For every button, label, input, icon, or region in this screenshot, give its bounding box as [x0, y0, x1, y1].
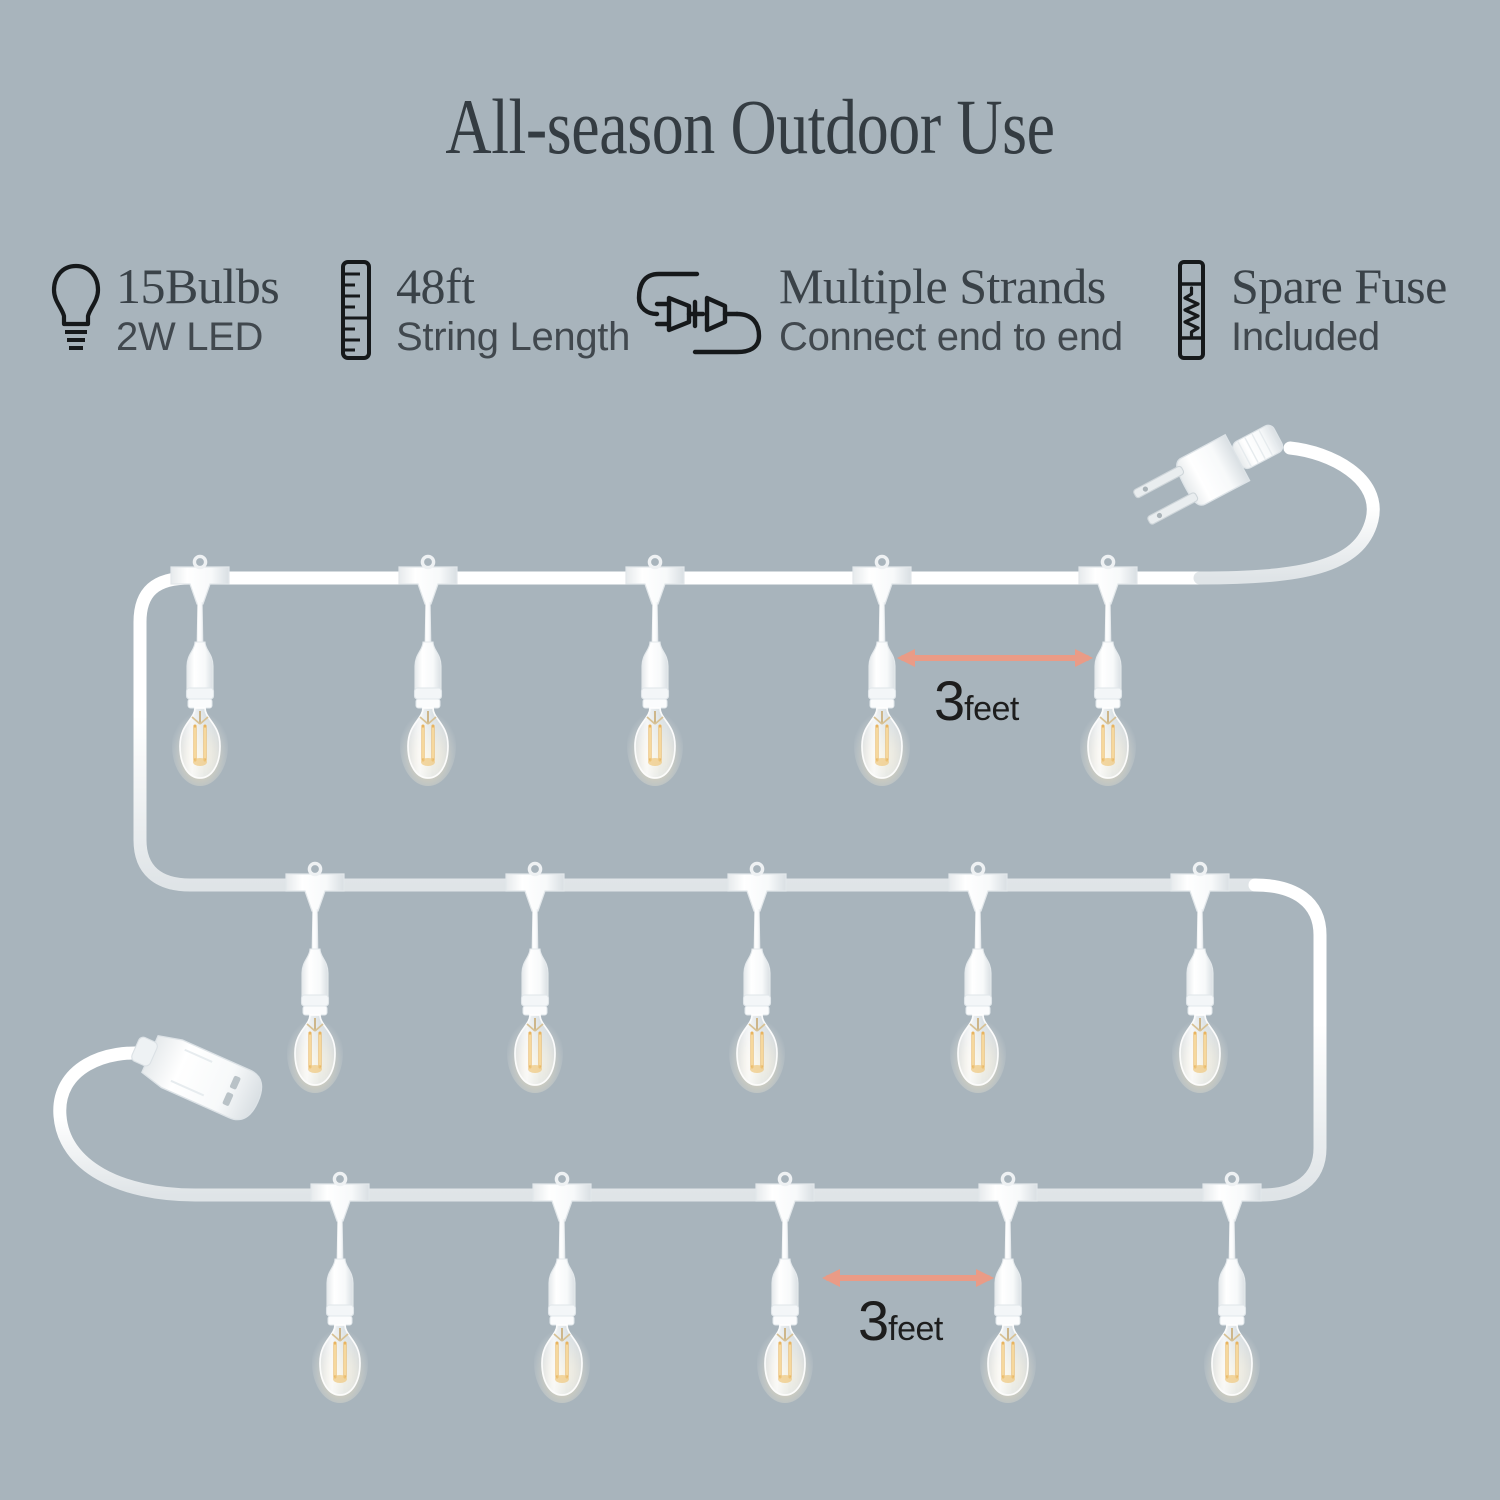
feature-text: 48ft String Length: [396, 258, 630, 362]
feature-sub-label: String Length: [396, 314, 630, 360]
bulb: [728, 863, 786, 1093]
bulb: [1079, 556, 1137, 786]
fuse-icon: [1165, 258, 1217, 362]
bulb: [399, 556, 457, 786]
feature-item-bulbs: 15Bulbs 2W LED: [50, 258, 279, 362]
bulb: [286, 863, 344, 1093]
male-plug-assembly: [1130, 413, 1373, 578]
middle-row-bulbs: [286, 863, 1229, 1093]
bulb: [853, 556, 911, 786]
feature-main-label: 15Bulbs: [116, 261, 279, 312]
feature-item-length: 48ft String Length: [330, 258, 630, 362]
feature-main-label: Multiple Strands: [779, 261, 1123, 312]
feature-sub-label: Connect end to end: [779, 314, 1123, 360]
top-row-bulbs: [171, 556, 1137, 786]
feature-sub-label: 2W LED: [116, 314, 279, 360]
string-lights-diagram: 3feet 3feet: [0, 400, 1500, 1460]
bulb: [626, 556, 684, 786]
page-title: All-season Outdoor Use: [135, 88, 1365, 166]
bulb: [979, 1173, 1037, 1403]
bottom-row-bulbs: [311, 1173, 1261, 1403]
feature-item-strands: Multiple Strands Connect end to end: [635, 258, 1123, 362]
diagram-svg: [0, 400, 1500, 1460]
bulb: [533, 1173, 591, 1403]
bulb: [311, 1173, 369, 1403]
infographic-canvas: All-season Outdoor Use 15Bulbs 2W LED: [0, 0, 1500, 1500]
bulb: [756, 1173, 814, 1403]
connector-plugs-icon: [635, 258, 765, 362]
bulb-icon: [50, 258, 102, 362]
measurement-arrow-top: [897, 649, 1093, 667]
feature-sub-label: Included: [1231, 314, 1447, 360]
bulb: [171, 556, 229, 786]
bulb: [1171, 863, 1229, 1093]
feature-item-fuse: Spare Fuse Included: [1165, 258, 1447, 362]
feature-text: Multiple Strands Connect end to end: [779, 258, 1123, 362]
feature-text: Spare Fuse Included: [1231, 258, 1447, 362]
measurement-arrow-bottom: [822, 1269, 994, 1287]
ruler-icon: [330, 258, 382, 362]
feature-text: 15Bulbs 2W LED: [116, 258, 279, 362]
feature-main-label: Spare Fuse: [1231, 261, 1447, 312]
bulb: [1203, 1173, 1261, 1403]
feature-list: 15Bulbs 2W LED 48ft: [40, 258, 1470, 388]
bulb: [949, 863, 1007, 1093]
feature-main-label: 48ft: [396, 261, 630, 312]
bulb: [506, 863, 564, 1093]
